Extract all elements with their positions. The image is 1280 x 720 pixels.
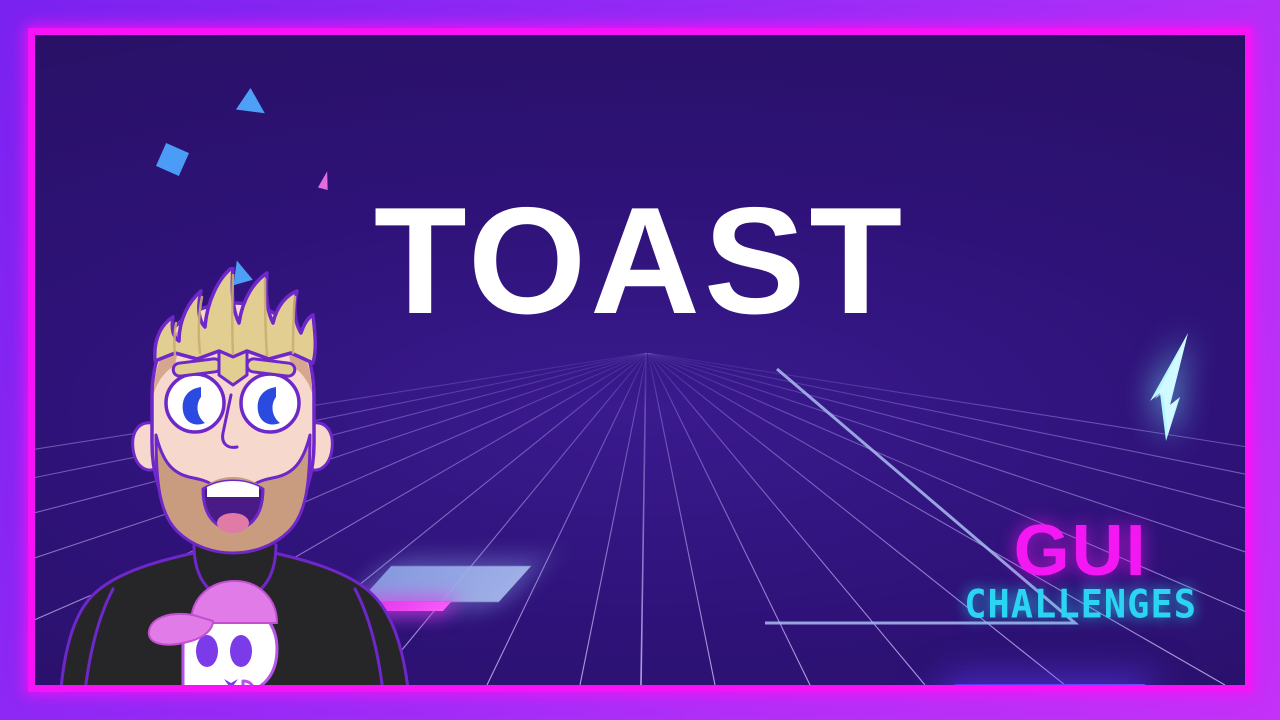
- grid-quad-right: [925, 684, 1146, 685]
- neon-frame: TOAST GUI CHALLENGES: [28, 28, 1252, 692]
- logo-primary-text: GUI: [964, 518, 1197, 584]
- logo-secondary-text: CHALLENGES: [964, 585, 1197, 624]
- confetti-square-blue: [156, 143, 189, 176]
- confetti-triangle-blue-top: [236, 88, 272, 124]
- gui-challenges-logo: GUI CHALLENGES: [964, 518, 1197, 623]
- frame-inner-content: TOAST GUI CHALLENGES: [35, 35, 1245, 685]
- lightning-bolt-icon: [1147, 331, 1193, 443]
- screenshot-root: TOAST GUI CHALLENGES: [0, 0, 1280, 720]
- host-avatar: [55, 267, 415, 685]
